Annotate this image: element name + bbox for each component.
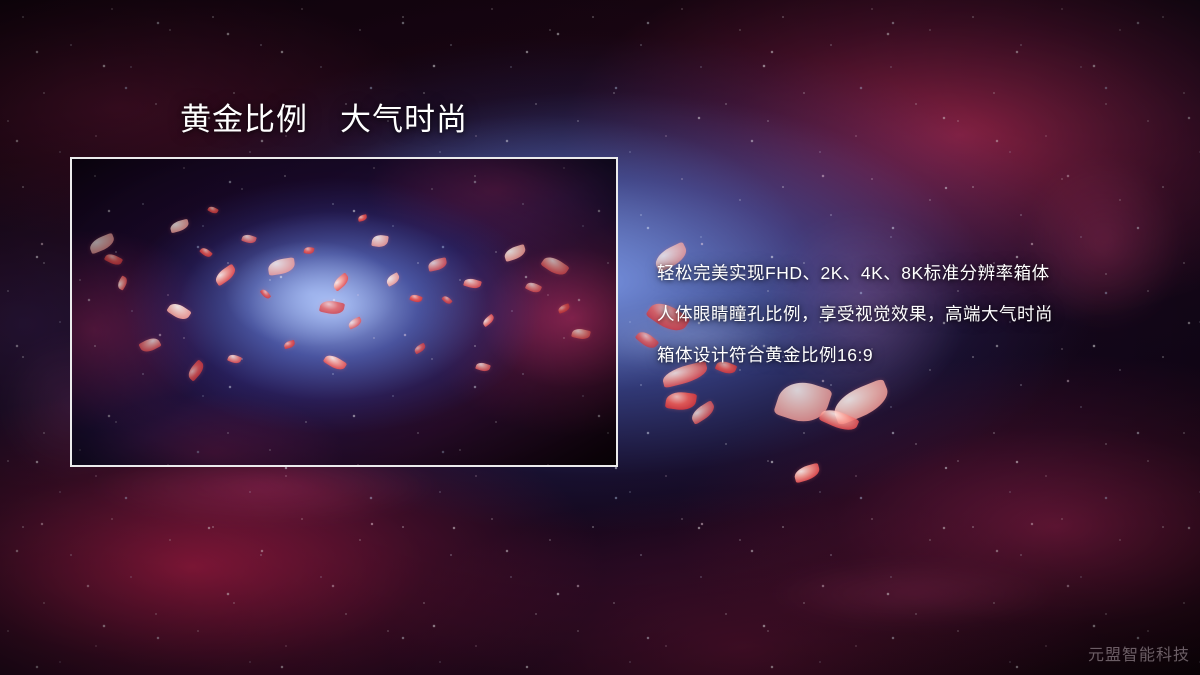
petal bbox=[665, 390, 697, 412]
photo-frame bbox=[70, 157, 618, 467]
watermark: 元盟智能科技 bbox=[1088, 645, 1190, 667]
body-line-1: 轻松完美实现FHD、2K、4K、8K标准分辨率箱体 bbox=[657, 253, 1177, 294]
petal bbox=[635, 328, 660, 351]
presentation-slide: 黄金比例 大气时尚 轻松完美实现FHD、2K、4K、8K标准分辨率箱体 人体眼睛… bbox=[0, 0, 1200, 675]
body-line-2: 人体眼睛瞳孔比例，享受视觉效果，高端大气时尚 bbox=[657, 294, 1177, 335]
petal bbox=[689, 400, 718, 425]
slide-title: 黄金比例 大气时尚 bbox=[180, 100, 468, 140]
petal bbox=[793, 463, 822, 484]
petal bbox=[818, 405, 859, 435]
photo-image bbox=[72, 159, 616, 465]
petal bbox=[773, 375, 833, 428]
body-copy: 轻松完美实现FHD、2K、4K、8K标准分辨率箱体 人体眼睛瞳孔比例，享受视觉效… bbox=[657, 253, 1177, 376]
photo-vignette bbox=[72, 159, 616, 465]
body-line-3: 箱体设计符合黄金比例16:9 bbox=[657, 335, 1177, 376]
petal bbox=[829, 378, 893, 426]
